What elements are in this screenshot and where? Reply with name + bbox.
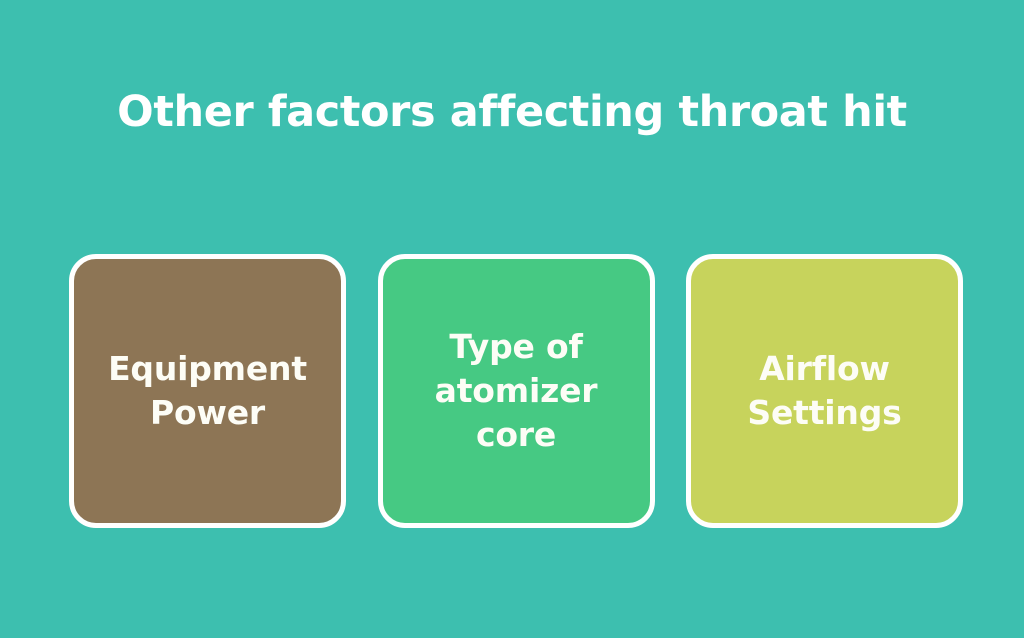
- factor-card-atomizer-core: Type of atomizer core: [378, 254, 655, 528]
- factor-card-label: Equipment Power: [108, 347, 307, 435]
- factor-card-label: Airflow Settings: [747, 347, 901, 435]
- factor-card-label: Type of atomizer core: [435, 325, 598, 457]
- page-title: Other factors affecting throat hit: [0, 84, 1024, 140]
- factor-card-row: Equipment Power Type of atomizer core Ai…: [69, 254, 963, 528]
- factor-card-equipment-power: Equipment Power: [69, 254, 346, 528]
- infographic-slide: Other factors affecting throat hit Equip…: [0, 0, 1024, 638]
- factor-card-airflow-settings: Airflow Settings: [686, 254, 963, 528]
